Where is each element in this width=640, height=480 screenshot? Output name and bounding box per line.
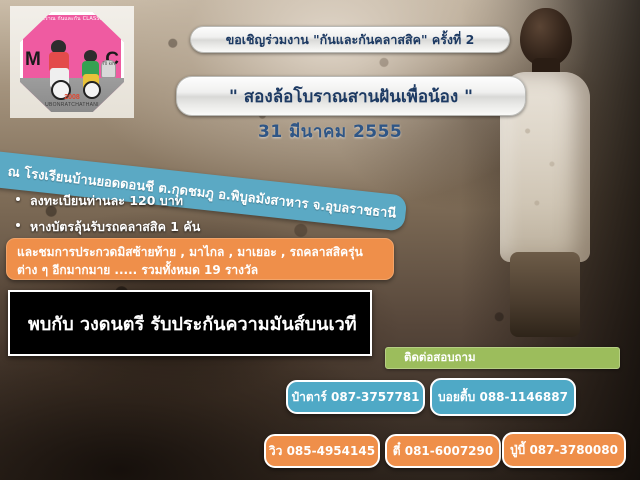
bullet-label: ลงทะเบียนท่านละ 120 บาท [30,188,183,214]
logo-octagon-badge: สองล้อโบราณ กันและกัน CLASSIC CLUB M C 7… [20,12,124,112]
bullet-dot-icon [16,223,20,227]
logo-city: UBONRATCHATHANI [20,103,124,108]
live-band-label: พบกับ วงดนตรี รับประกันความมันส์บนเวที [10,309,357,338]
contact-button-tee[interactable]: ตี๋ 081-6007290 [385,434,501,468]
event-poster: สองล้อโบราณ กันและกัน CLASSIC CLUB M C 7… [0,0,640,480]
boy-figure-photo [498,0,590,330]
details-bullet-list: ลงทะเบียนท่านละ 120 บาท หางบัตรลุ้นรับรถ… [16,188,346,239]
contact-header-label: ติดต่อสอบถาม [386,349,476,367]
contact-header-bar: ติดต่อสอบถาม [385,347,620,369]
logo-year: 2008 [20,94,124,101]
logo-rider-red [44,40,78,94]
logo-top-text: สองล้อโบราณ กันและกัน CLASSIC CLUB [20,17,124,22]
list-item: ลงทะเบียนท่านละ 120 บาท [16,188,346,214]
logo-letter-m: M [25,50,41,69]
prize-info-box: และชมการประกวดมิสซ้ายท้าย , มาไกล , มาเย… [6,238,394,280]
contact-button-boytueb[interactable]: บอยตื้บ 088-1146887 [430,378,576,416]
contact-button-wiw[interactable]: วิว 085-4954145 [264,434,380,468]
invite-banner: ขอเชิญร่วมงาน "กันและกันคลาสสิค" ครั้งที… [190,26,510,53]
prize-line-1: และชมการประกวดมิสซ้ายท้าย , มาไกล , มาเย… [17,243,383,261]
contact-button-padarn[interactable]: ป๋าตาร์ 087-3757781 [286,380,425,414]
event-date: 31 มีนาคม 2555 [258,118,448,145]
bullet-label: หางบัตรลุ้นรับรถคลาสสิค 1 คัน [30,214,200,240]
boy-pants [510,252,580,337]
logo-milestone-sign: 70 km [101,60,116,78]
prize-line-2: ต่าง ๆ อีกมากมาย ..... รวมทั้งหมด 19 ราง… [17,261,383,279]
contact-button-pubee[interactable]: ปู่บี้ 087-3780080 [502,432,626,468]
list-item: หางบัตรลุ้นรับรถคลาสสิค 1 คัน [16,214,346,240]
live-band-banner: พบกับ วงดนตรี รับประกันความมันส์บนเวที [8,290,372,356]
bullet-dot-icon [16,197,20,201]
theme-banner: " สองล้อโบราณสานฝันเพื่อน้อง " [176,76,526,116]
club-logo: สองล้อโบราณ กันและกัน CLASSIC CLUB M C 7… [10,6,134,118]
